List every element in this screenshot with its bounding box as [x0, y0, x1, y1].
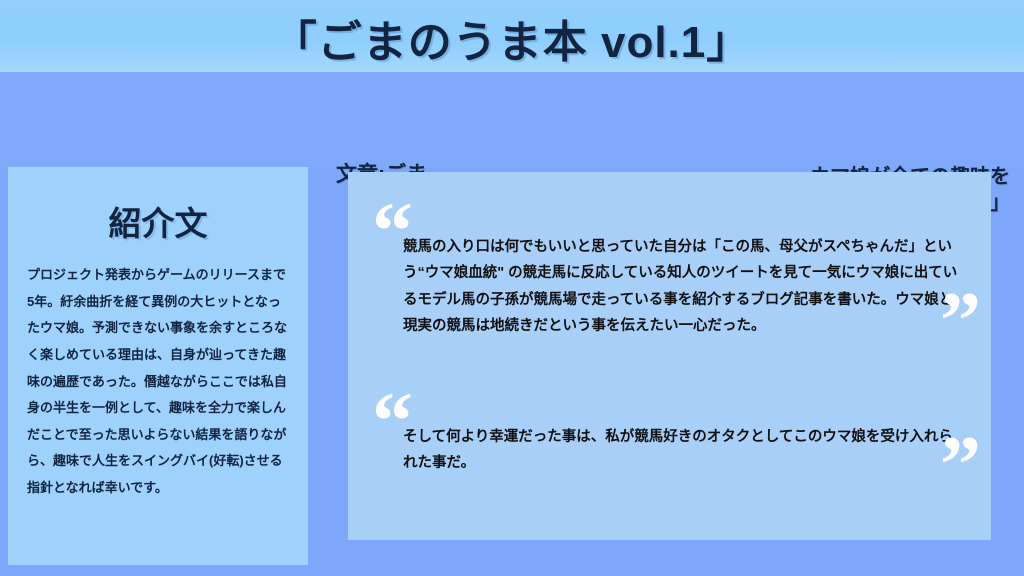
subtitle-band: 50p〜56P 文章:ごま 「人間万事塞翁がウマ娘 〜ウマ娘が全ての趣味を 繋い…: [0, 72, 1024, 168]
quote-close-icon: ”: [940, 424, 981, 506]
page-title: 「ごまのうま本 vol.1」: [0, 6, 1024, 70]
intro-panel: 紹介文 プロジェクト発表からゲームのリリースまで5年。紆余曲折を経て異例の大ヒッ…: [8, 167, 308, 565]
quote-text: 競馬の入り口は何でもいいと思っていた自分は「この馬、母父がスペちゃんだ」という“…: [403, 234, 958, 340]
quote-panel: “ 競馬の入り口は何でもいいと思っていた自分は「この馬、母父がスペちゃんだ」とい…: [348, 172, 991, 540]
intro-heading: 紹介文: [8, 197, 308, 245]
intro-body-text: プロジェクト発表からゲームのリリースまで5年。紆余曲折を経て異例の大ヒットとなっ…: [27, 262, 293, 502]
quote-text: そして何より幸運だった事は、私が競馬好きのオタクとしてこのウマ娘を受け入れられた…: [403, 424, 958, 477]
header-band: 「ごまのうま本 vol.1」: [0, 0, 1024, 72]
quote-close-icon: ”: [940, 280, 981, 362]
